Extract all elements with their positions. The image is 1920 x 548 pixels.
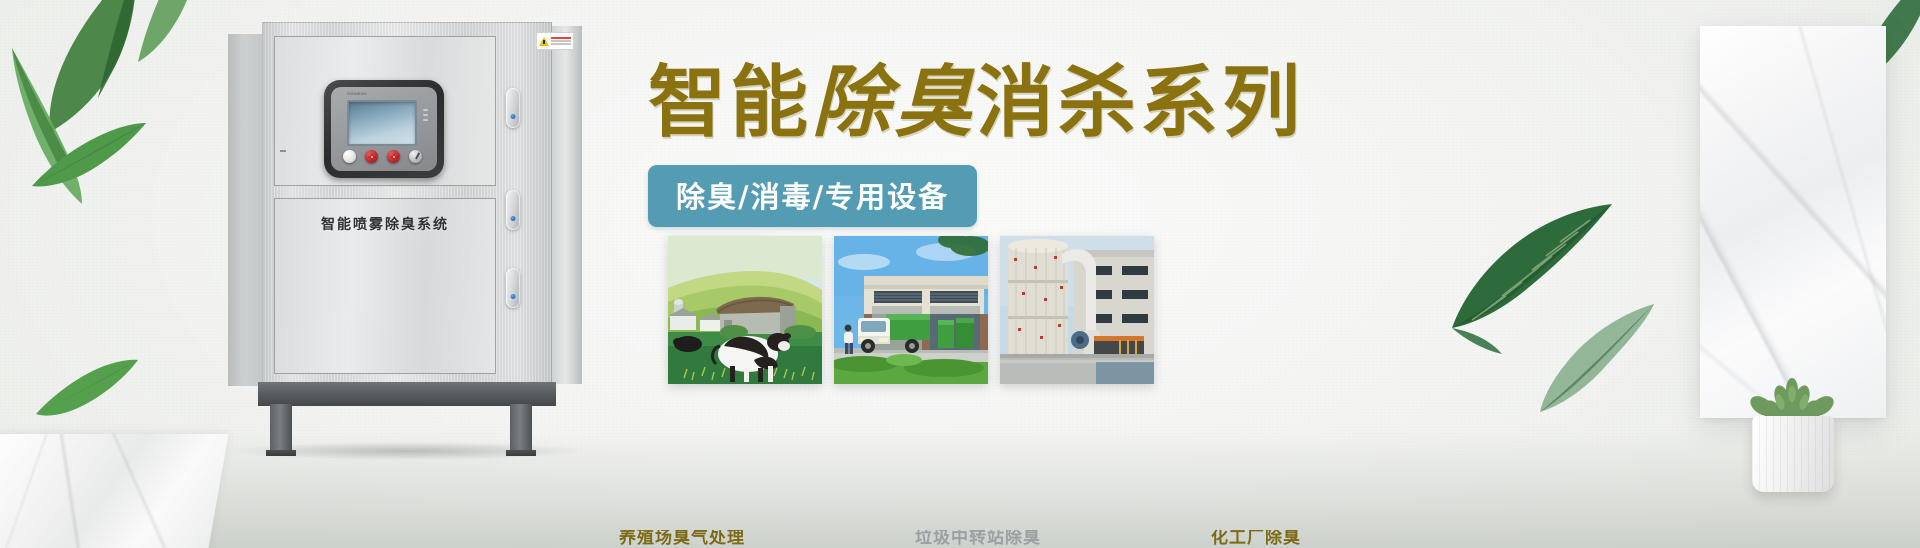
hmi-touchscreen[interactable] (347, 100, 417, 146)
warning-triangle-icon (539, 37, 549, 46)
bottom-caption-1: 养殖场臭气处理 (619, 530, 745, 548)
leaf-decoration-top-left (0, 0, 216, 180)
leaf-decoration-left-lower (34, 352, 142, 424)
emergency-stop-button-a[interactable] (365, 150, 378, 163)
hmi-control-row (343, 150, 422, 163)
emergency-stop-button-b[interactable] (387, 150, 400, 163)
leaf-decoration-right-banana (1390, 198, 1620, 378)
hmi-face-plate: SIEMENS (331, 87, 437, 171)
bottom-caption-3: 化工厂除臭 (1211, 530, 1301, 548)
leaf-decoration-left-mid (28, 110, 148, 198)
leaf-decoration-left-upper (6, 40, 136, 210)
headline-part-2-brush: 除臭 (812, 58, 976, 148)
hmi-status-leds (423, 109, 428, 121)
headline-part-1: 智能 (648, 57, 812, 148)
headline-part-3: 消杀系列 (976, 57, 1304, 148)
indicator-lamp-icon[interactable] (343, 150, 356, 163)
cabinet-handle-mid[interactable] (506, 190, 520, 230)
cabinet-right-column (552, 26, 582, 384)
thumbnail-dairy-farm[interactable] (668, 236, 822, 384)
product-machine-cabinet: SIEMENS 智能喷雾除臭系统 (228, 22, 584, 434)
cabinet-base-bar (258, 382, 556, 406)
high-voltage-warning-label (536, 32, 574, 50)
hmi-brand-label: SIEMENS (347, 91, 367, 96)
cabinet-handle-upper[interactable] (506, 88, 520, 128)
bottom-caption-row: 养殖场臭气处理 垃圾中转站除臭 化工厂除臭 (0, 530, 1920, 548)
warning-label-lines (551, 37, 571, 45)
application-thumbnail-list (668, 236, 1154, 384)
leaf-decoration-right-lower (1508, 300, 1658, 420)
cabinet-door-label: 智能喷雾除臭系统 (274, 214, 496, 234)
headline-block: 智能除臭消杀系列 除臭/消毒/专用设备 (648, 62, 1348, 227)
cabinet-handle-lower[interactable] (506, 268, 520, 308)
page-title: 智能除臭消杀系列 (648, 62, 1348, 145)
promo-banner: SIEMENS 智能喷雾除臭系统 智能除臭消 (0, 0, 1920, 548)
hmi-control-panel: SIEMENS (324, 80, 444, 178)
subtitle-badge: 除臭/消毒/专用设备 (648, 165, 977, 227)
selector-switch-knob[interactable] (409, 150, 422, 163)
bottom-caption-2: 垃圾中转站除臭 (915, 530, 1041, 548)
cabinet-ground-shadow (234, 442, 584, 460)
thumbnail-waste-transfer-station[interactable] (834, 236, 988, 384)
thumbnail-deodorization-tower[interactable] (1000, 236, 1154, 384)
plant-pot (1752, 416, 1834, 492)
cabinet-keyhole (280, 150, 286, 152)
